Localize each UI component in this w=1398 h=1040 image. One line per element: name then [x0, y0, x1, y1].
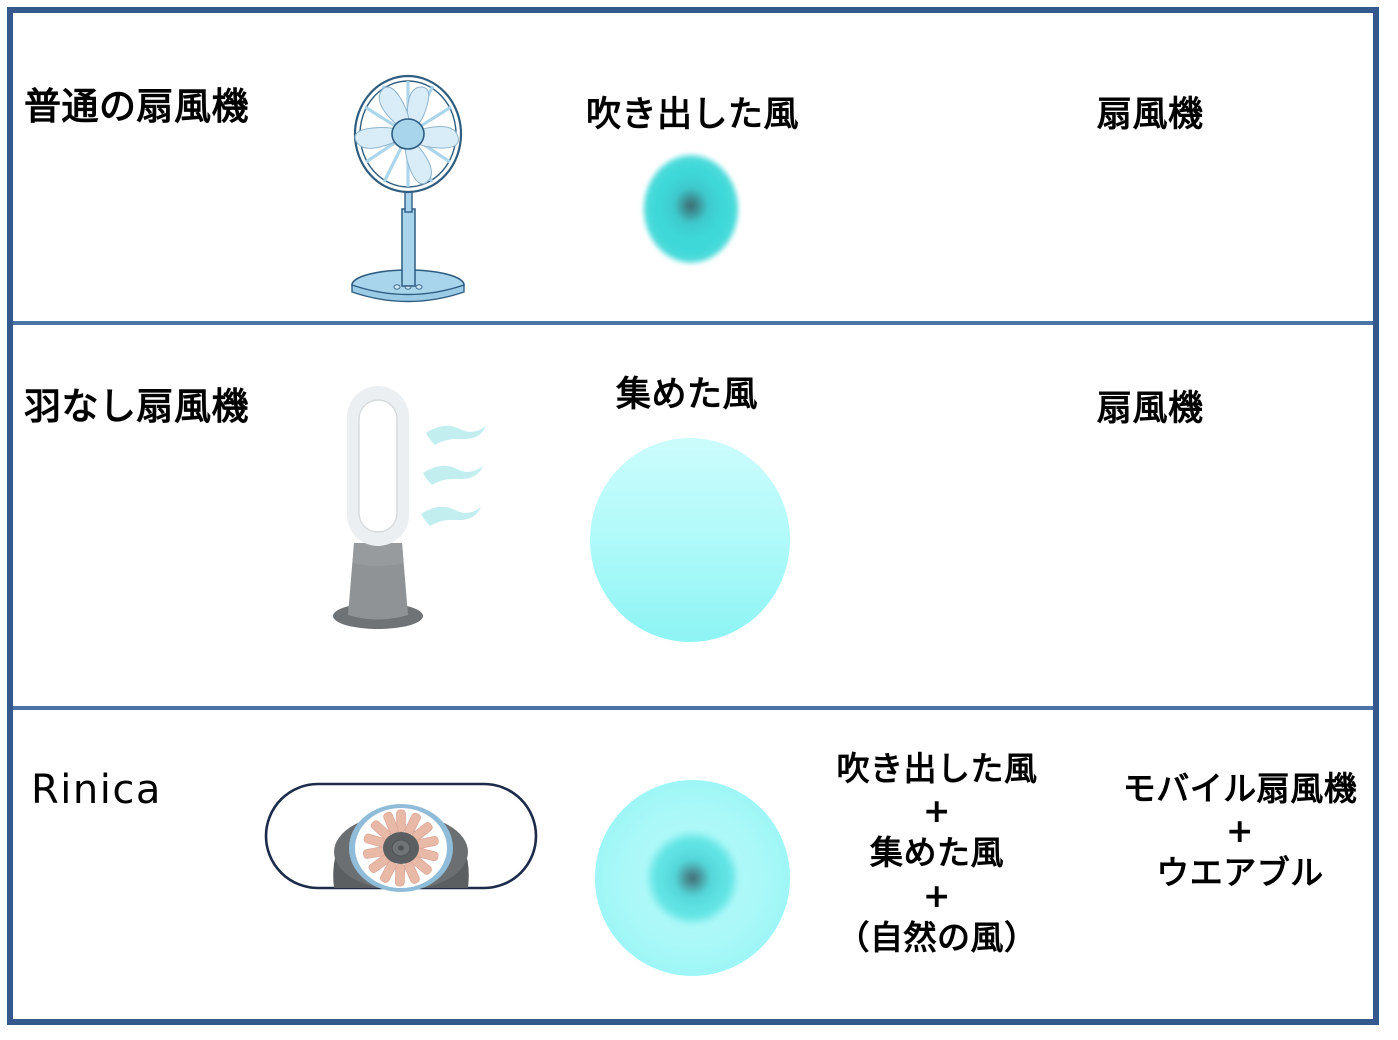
wind-visual-standard-fan	[641, 152, 741, 266]
bladeless-tower-fan-icon	[318, 378, 508, 633]
wind-visual-rinica-core	[645, 830, 740, 926]
wind-streaks-icon	[421, 426, 486, 526]
category-label-bladeless-fan: 扇風機	[1097, 387, 1204, 432]
rinica-wearable-fan-icon	[262, 766, 540, 906]
wind-visual-bladeless-fan	[590, 438, 790, 642]
product-name-rinica: Rinica	[31, 765, 162, 816]
product-name-bladeless-fan: 羽なし扇風機	[24, 383, 249, 430]
product-name-standard-fan: 普通の扇風機	[24, 83, 249, 130]
category-label-standard-fan: 扇風機	[1097, 93, 1204, 138]
slide-canvas: 普通の扇風機 吹き出した風 扇風機	[0, 0, 1398, 1040]
wind-label-bladeless-fan: 集めた風	[616, 373, 758, 418]
pedestal-fan-icon	[338, 72, 478, 307]
wind-label-standard-fan: 吹き出した風	[586, 93, 799, 138]
category-label-rinica: モバイル扇風機 + ウエアブル	[1101, 768, 1379, 895]
wind-label-rinica: 吹き出した風 + 集めた風 + （自然の風）	[821, 748, 1053, 959]
